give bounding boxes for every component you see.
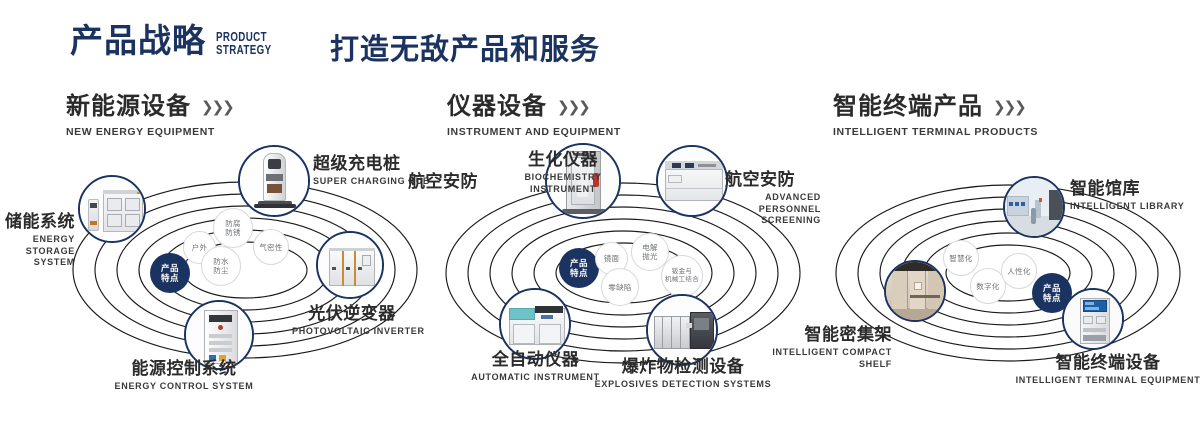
caption-en: BIOCHEMISTRY INSTRUMENT [498, 172, 628, 195]
section-title-en: INSTRUMENT AND EQUIPMENT [447, 126, 621, 138]
feature-bubble: 防水防尘 [201, 246, 241, 286]
intelligent-library-photo [1005, 178, 1063, 236]
caption-energy-storage-system: 储能系统 ENERGY STORAGE SYSTEM [0, 213, 75, 268]
label-aviation-security: 航空安防 [408, 167, 478, 192]
caption-advanced-personnel-screening: 航空安防 ADVANCED PERSONNEL SCREENING [725, 171, 821, 226]
caption-intelligent-compact-shelf: 智能密集架 INTELLIGENT COMPACT SHELF [752, 326, 892, 370]
feature-bubble: 人性化 [1001, 253, 1037, 289]
automatic-instrument-photo [501, 290, 569, 358]
node-super-charging-hub[interactable] [238, 145, 310, 217]
screening-photo [658, 147, 726, 215]
caption-cn: 智能馆库 [1070, 180, 1184, 198]
section-title-en: INTELLIGENT TERMINAL PRODUCTS [833, 126, 1038, 138]
chevron-right-icon: ❯❯❯ [557, 100, 589, 115]
energy-storage-photo [80, 177, 144, 241]
caption-photovoltaic-inverter: 光伏逆变器 PHOTOVOLTAIC INVERTER [292, 305, 412, 338]
core-line2: 特点 [1043, 293, 1061, 303]
caption-en: ENERGY STORAGE SYSTEM [0, 234, 75, 268]
feature-bubble: 智慧化 [943, 240, 979, 276]
new-energy-cluster: 产品 特点 户外 防腐防锈 防水防尘 气密性 储 [55, 155, 435, 385]
caption-cn: 爆炸物检测设备 [593, 358, 773, 376]
node-intelligent-library[interactable] [1003, 176, 1065, 238]
node-intelligent-compact-shelf[interactable] [884, 260, 946, 322]
caption-biochemistry-instrument: 生化仪器 BIOCHEMISTRY INSTRUMENT [498, 151, 628, 195]
caption-cn: 智能密集架 [752, 326, 892, 344]
terminal-equipment-photo [1064, 290, 1122, 348]
caption-intelligent-terminal-equipment: 智能终端设备 INTELLIGENT TERMINAL EQUIPMENT [1013, 354, 1200, 387]
caption-en: PHOTOVOLTAIC INVERTER [292, 326, 412, 337]
node-energy-storage-system[interactable] [78, 175, 146, 243]
caption-en: ADVANCED PERSONNEL SCREENING [725, 192, 821, 226]
caption-intelligent-library: 智能馆库 INTELLIGENT LIBRARY [1070, 180, 1184, 213]
caption-en: ENERGY CONTROL SYSTEM [89, 381, 279, 392]
core-bubble: 产品 特点 [150, 253, 190, 293]
section-title-cn: 智能终端产品 [833, 95, 983, 119]
caption-cn: 生化仪器 [498, 151, 628, 169]
caption-cn: 能源控制系统 [89, 360, 279, 378]
caption-cn: 储能系统 [0, 213, 75, 231]
feature-bubble: 钣金与机械工结合 [661, 255, 703, 297]
page-title: 产品战略 PRODUCT STRATEGY [70, 24, 287, 57]
caption-cn: 智能终端设备 [1013, 354, 1200, 372]
page-title-en-line1: PRODUCT [216, 31, 271, 44]
node-intelligent-terminal-equipment[interactable] [1062, 288, 1124, 350]
core-line1: 产品 [161, 263, 179, 273]
node-advanced-personnel-screening[interactable] [656, 145, 728, 217]
page-slogan: 打造无敌产品和服务 [330, 36, 600, 65]
caption-en: EXPLOSIVES DETECTION SYSTEMS [593, 379, 773, 390]
compact-shelf-photo [886, 262, 944, 320]
page-title-en-line2: STRATEGY [216, 44, 271, 57]
explosives-detection-photo [648, 296, 716, 364]
caption-explosives-detection: 爆炸物检测设备 EXPLOSIVES DETECTION SYSTEMS [593, 358, 773, 391]
section-header-intelligent: 智能终端产品 ❯❯❯ INTELLIGENT TERMINAL PRODUCTS [833, 95, 1038, 138]
caption-en: INTELLIGENT TERMINAL EQUIPMENT [1013, 375, 1200, 386]
section-header-instrument: 仪器设备 ❯❯❯ INSTRUMENT AND EQUIPMENT [447, 95, 621, 138]
caption-en: INTELLIGENT COMPACT SHELF [752, 347, 892, 370]
caption-energy-control-system: 能源控制系统 ENERGY CONTROL SYSTEM [89, 360, 279, 393]
page-title-en: PRODUCT STRATEGY [216, 31, 271, 56]
charging-hub-photo [240, 147, 308, 215]
core-bubble: 产品 特点 [559, 248, 599, 288]
section-title-cn: 新能源设备 [66, 95, 191, 119]
section-title-en: NEW ENERGY EQUIPMENT [66, 126, 233, 138]
chevron-right-icon: ❯❯❯ [201, 100, 233, 115]
core-line1: 产品 [1043, 283, 1061, 293]
node-photovoltaic-inverter[interactable] [316, 231, 384, 299]
section-header-new-energy: 新能源设备 ❯❯❯ NEW ENERGY EQUIPMENT [66, 95, 233, 138]
section-title-cn: 仪器设备 [447, 95, 547, 119]
caption-cn: 光伏逆变器 [292, 305, 412, 323]
core-line2: 特点 [570, 268, 588, 278]
feature-bubble: 气密性 [253, 229, 289, 265]
poster-canvas: 产品战略 PRODUCT STRATEGY 打造无敌产品和服务 新能源设备 ❯❯… [0, 0, 1200, 422]
intelligent-cluster: 智慧化 数字化 人性化 产品 特点 [818, 158, 1198, 388]
pv-inverter-photo [318, 233, 382, 297]
core-line2: 特点 [161, 273, 179, 283]
caption-en: INTELLIGENT LIBRARY [1070, 201, 1184, 212]
node-explosives-detection[interactable] [646, 294, 718, 366]
page-title-cn: 产品战略 [70, 24, 206, 57]
chevron-right-icon: ❯❯❯ [993, 100, 1025, 115]
feature-bubble: 零缺陷 [601, 268, 639, 306]
caption-cn: 航空安防 [725, 171, 821, 189]
core-line1: 产品 [570, 258, 588, 268]
